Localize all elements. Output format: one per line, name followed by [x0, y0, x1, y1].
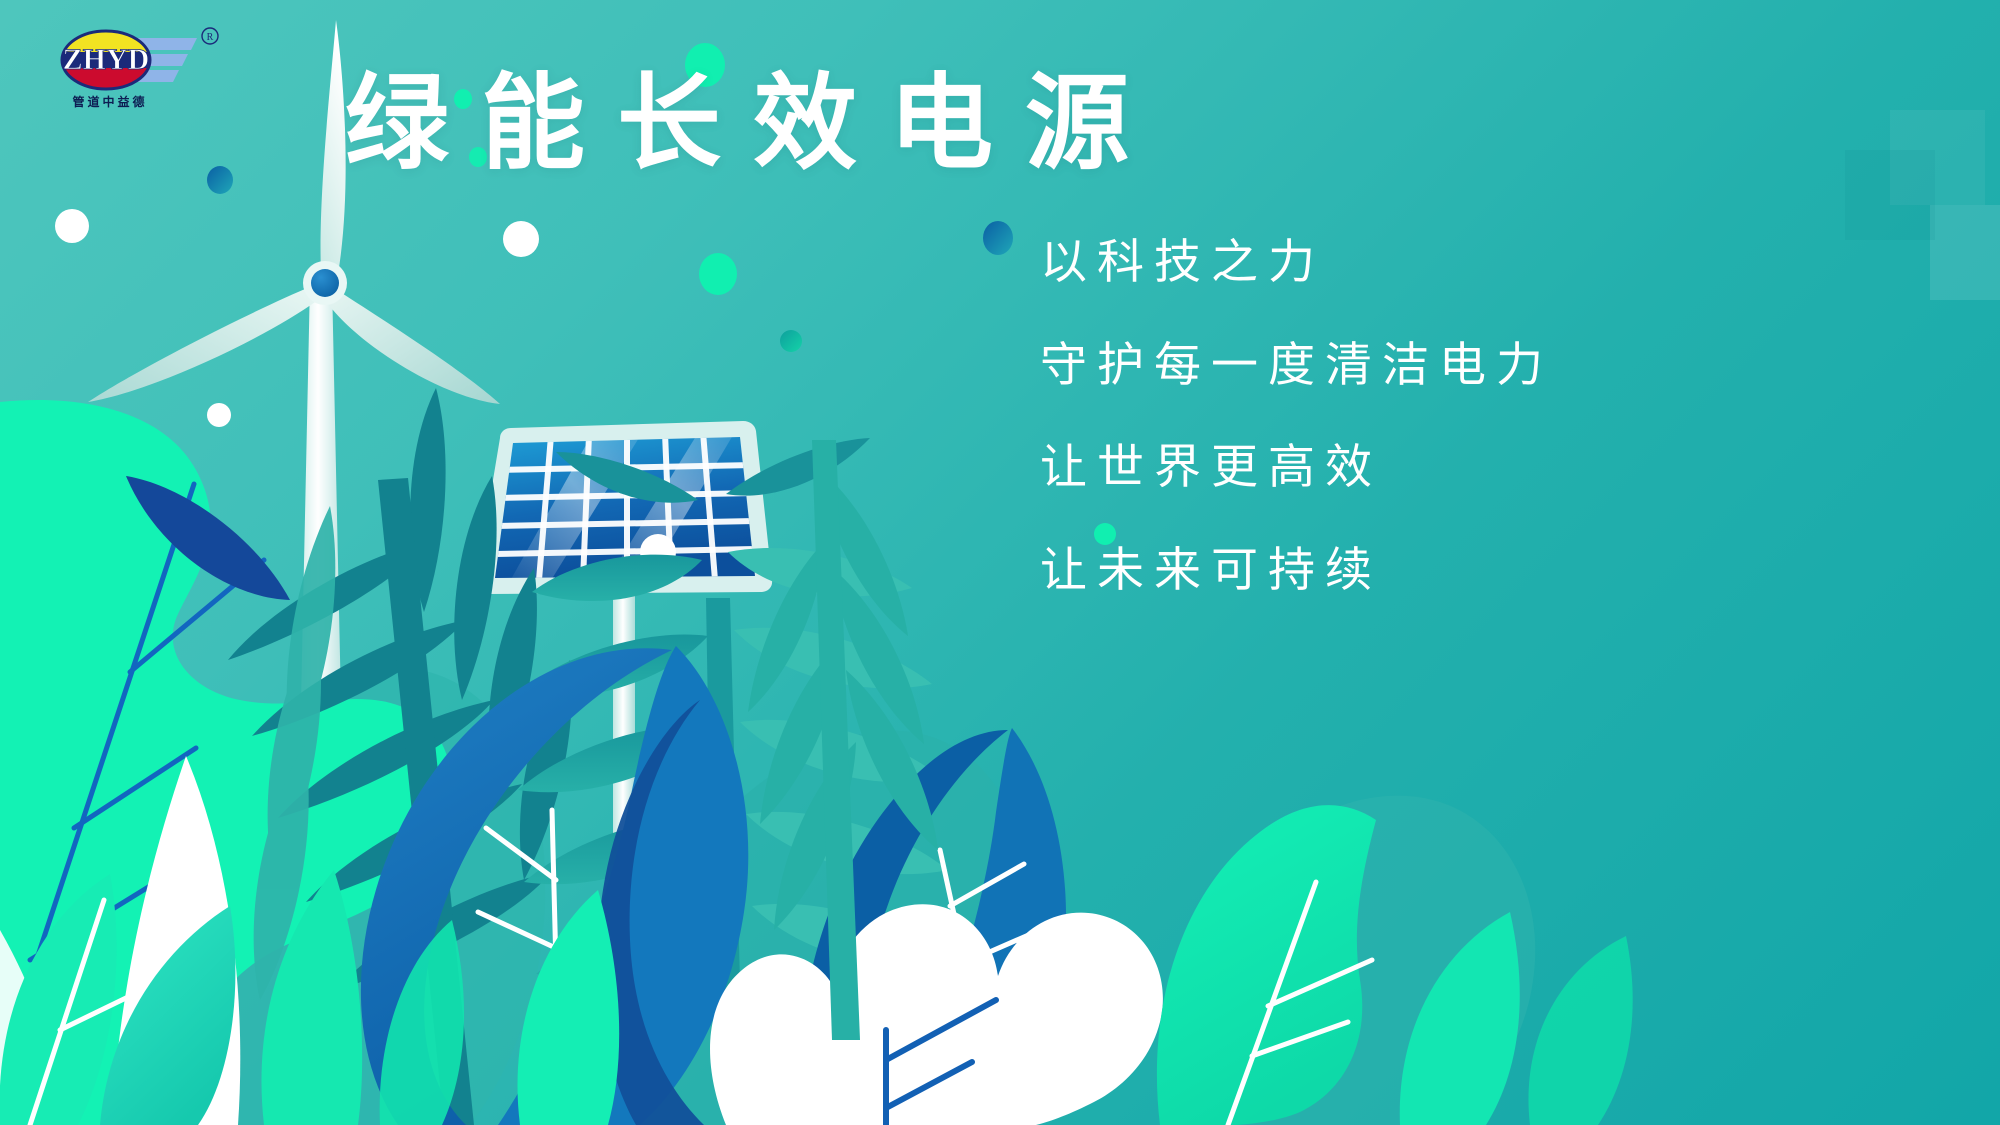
- page-title: 绿能长效电源: [345, 72, 1161, 176]
- brand-logo[interactable]: ZHYD R 管道中益德: [50, 22, 225, 114]
- tagline-line-3: 让世界更高效: [1040, 441, 1553, 494]
- logo-wordmark: ZHYD: [63, 43, 150, 76]
- registered-icon: R: [202, 28, 218, 44]
- tagline-line-1: 以科技之力: [1040, 236, 1553, 289]
- svg-text:R: R: [207, 32, 214, 43]
- poster-canvas: ZHYD R 管道中益德 绿能长效电源 以科技之力 守护每一度清洁电力 让世界更…: [0, 0, 2000, 1125]
- tagline-line-2: 守护每一度清洁电力: [1040, 339, 1553, 392]
- tagline-line-4: 让未来可持续: [1040, 544, 1553, 597]
- tagline-block: 以科技之力 守护每一度清洁电力 让世界更高效 让未来可持续: [1040, 236, 1553, 597]
- logo-subtitle: 管道中益德: [72, 94, 147, 109]
